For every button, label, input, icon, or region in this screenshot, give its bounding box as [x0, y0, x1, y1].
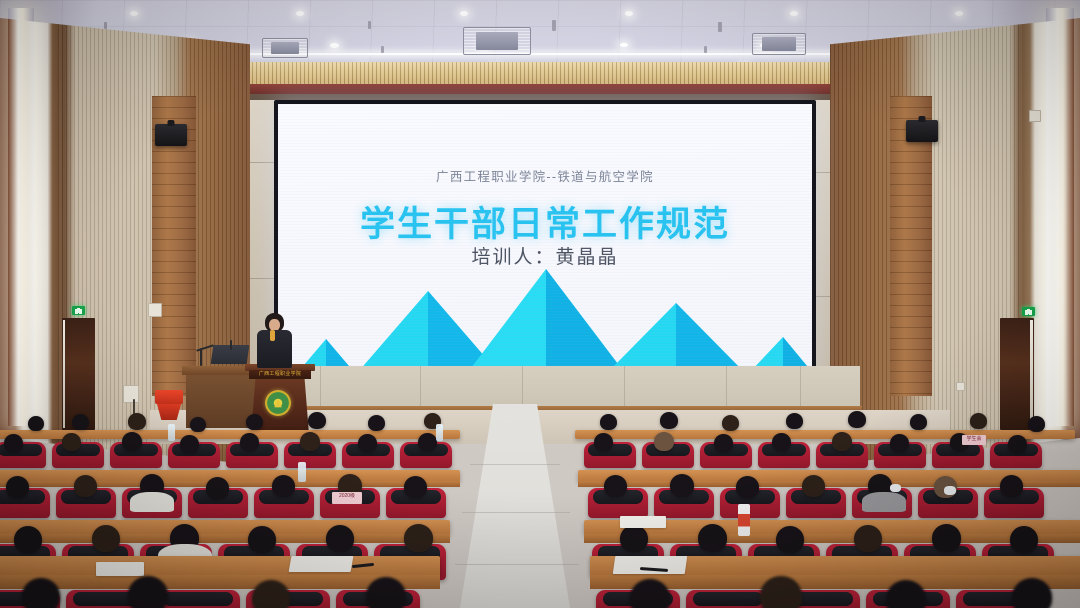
- podium-banner: 广西工程职业学院: [249, 370, 311, 379]
- worksheet: [613, 556, 688, 574]
- audience-shoulders: [862, 492, 906, 512]
- ceiling-sensor: [368, 21, 371, 29]
- audience-head: [418, 433, 437, 451]
- projection-screen: 广西工程职业学院--铁道与航空学院 学生干部日常工作规范 培训人：黄晶晶: [278, 104, 812, 372]
- audience-head: [1028, 416, 1045, 432]
- audience-head: [14, 526, 42, 553]
- wall-speaker-left: [155, 124, 187, 146]
- audience-head: [600, 414, 617, 430]
- worksheet: [289, 556, 354, 572]
- audience-head: [206, 477, 229, 499]
- audience-head-foreground: [22, 578, 60, 608]
- slide-presenter-line: 培训人：黄晶晶: [278, 242, 812, 269]
- desk-row: [0, 556, 440, 576]
- ceiling-sensor: [718, 22, 722, 32]
- slide-subtitle: 广西工程职业学院--铁道与航空学院: [278, 166, 812, 185]
- desk-row: [0, 520, 450, 535]
- audience-head: [246, 414, 263, 430]
- water-bottle: [298, 462, 306, 482]
- audience-head: [404, 476, 427, 498]
- audience-head: [28, 416, 44, 431]
- audience-head-foreground: [252, 580, 290, 608]
- audience-shoulders: [130, 492, 174, 512]
- exit-sign-left-icon: [72, 306, 85, 315]
- right-side-wall: [830, 18, 1080, 464]
- audience-head: [786, 413, 803, 429]
- aisle-seam: [455, 564, 579, 565]
- audience-head: [594, 433, 613, 451]
- worksheet: [96, 562, 144, 576]
- center-aisle: [460, 404, 570, 608]
- row-marker-text: 2020级: [332, 492, 362, 504]
- notebook: [620, 516, 666, 528]
- audience-head: [240, 433, 259, 451]
- audience-head: [180, 435, 199, 453]
- ceiling-downlight: [296, 11, 304, 16]
- audience-seating: 学生会: [0, 404, 1080, 608]
- audience-head: [308, 412, 326, 429]
- ceiling-downlight: [625, 11, 633, 16]
- ceiling-downlight: [460, 11, 468, 16]
- face-mask: [944, 486, 956, 495]
- slide-title: 学生干部日常工作规范: [278, 196, 812, 247]
- wall-light-column-left: [8, 8, 34, 426]
- wall-plate-right-upper: [1029, 110, 1041, 122]
- audience-head: [122, 432, 142, 451]
- ceiling-sensor: [552, 20, 556, 31]
- wall-plate-left: [148, 303, 162, 317]
- audience-head: [772, 433, 791, 451]
- ceiling-downlight: [330, 43, 339, 48]
- presenter-microphone: [270, 330, 275, 341]
- water-bottle: [436, 424, 443, 441]
- ceiling-downlight: [790, 11, 798, 16]
- audience-head: [1010, 526, 1038, 553]
- audience-head: [970, 413, 987, 429]
- audience-head: [736, 476, 759, 498]
- audience-head: [670, 474, 694, 497]
- desk-row-face: [584, 534, 1080, 543]
- audience-head: [368, 415, 385, 431]
- audience-head: [72, 414, 89, 430]
- wall-speaker-right: [906, 120, 938, 142]
- audience-head: [604, 475, 627, 497]
- audience-head: [722, 415, 739, 431]
- row-marker-text: 学生会: [962, 435, 986, 445]
- audience-head: [1000, 475, 1023, 497]
- exit-sign-right-icon: [1022, 307, 1035, 316]
- audience-head: [776, 526, 804, 553]
- audience-head: [890, 434, 909, 452]
- audience-head: [4, 434, 23, 452]
- ac-vent: [463, 27, 531, 55]
- audience-head: [802, 475, 825, 497]
- audience-head: [714, 434, 733, 452]
- ceiling-sensor: [381, 46, 384, 53]
- audience-head: [6, 476, 29, 498]
- audience-head: [74, 475, 97, 497]
- slide-mountain-graphic: [278, 267, 812, 372]
- red-stool: [155, 390, 183, 404]
- microphone-stand: [200, 348, 202, 366]
- desk-row-face: [0, 481, 460, 487]
- audience-head: [190, 417, 206, 432]
- audience-head: [326, 525, 354, 552]
- projection-screen-frame: 广西工程职业学院--铁道与航空学院 学生干部日常工作规范 培训人：黄晶晶: [274, 100, 816, 376]
- audience-head: [404, 524, 433, 552]
- ceiling-downlight: [955, 11, 963, 16]
- desk-row: [575, 430, 1075, 439]
- audience-head: [1008, 435, 1027, 453]
- desk-row-face: [0, 534, 450, 543]
- audience-head: [910, 414, 927, 430]
- aisle-seam: [462, 512, 570, 513]
- audience-head: [128, 413, 146, 430]
- face-mask: [890, 484, 901, 492]
- audience-head: [62, 433, 81, 451]
- audience-head: [272, 475, 295, 497]
- ceiling-sensor: [104, 22, 107, 29]
- wall-plate-right: [956, 382, 965, 391]
- audience-head-foreground: [128, 576, 168, 608]
- audience-head: [620, 525, 648, 552]
- wall-light-column-right: [1046, 8, 1074, 426]
- audience-head: [932, 524, 961, 552]
- audience-head: [848, 411, 866, 428]
- audience-head-foreground: [366, 577, 406, 608]
- audience-head-foreground: [760, 576, 802, 608]
- audience-head: [654, 432, 674, 451]
- ac-vent: [752, 33, 806, 55]
- water-bottle: [168, 424, 175, 441]
- audience-head: [300, 432, 320, 451]
- audience-head: [358, 434, 377, 452]
- ceiling-downlight: [130, 11, 138, 16]
- audience-head: [854, 525, 882, 552]
- audience-head: [248, 526, 276, 553]
- water-bottle: [738, 504, 750, 536]
- audience-head-foreground: [1012, 578, 1052, 608]
- lecture-hall-photo: 广西工程职业学院--铁道与航空学院 学生干部日常工作规范 培训人：黄晶晶: [0, 0, 1080, 608]
- auditorium-seat: [156, 590, 240, 608]
- row-marker-tag: 2020级: [332, 492, 362, 504]
- podium-banner-text: 广西工程职业学院: [249, 370, 311, 379]
- audience-head: [832, 432, 852, 451]
- ceiling-downlight: [620, 43, 628, 47]
- auditorium-seat: [686, 590, 770, 608]
- audience-head: [92, 525, 120, 552]
- microphone-stand-2: [230, 340, 232, 350]
- audience-head: [698, 524, 727, 552]
- row-marker-tag: 学生会: [962, 435, 986, 445]
- aisle-seam: [470, 464, 560, 465]
- ac-vent: [262, 38, 308, 58]
- ceiling-sensor: [704, 46, 707, 53]
- wall-outlet-left: [123, 385, 139, 403]
- audience-head: [660, 412, 678, 429]
